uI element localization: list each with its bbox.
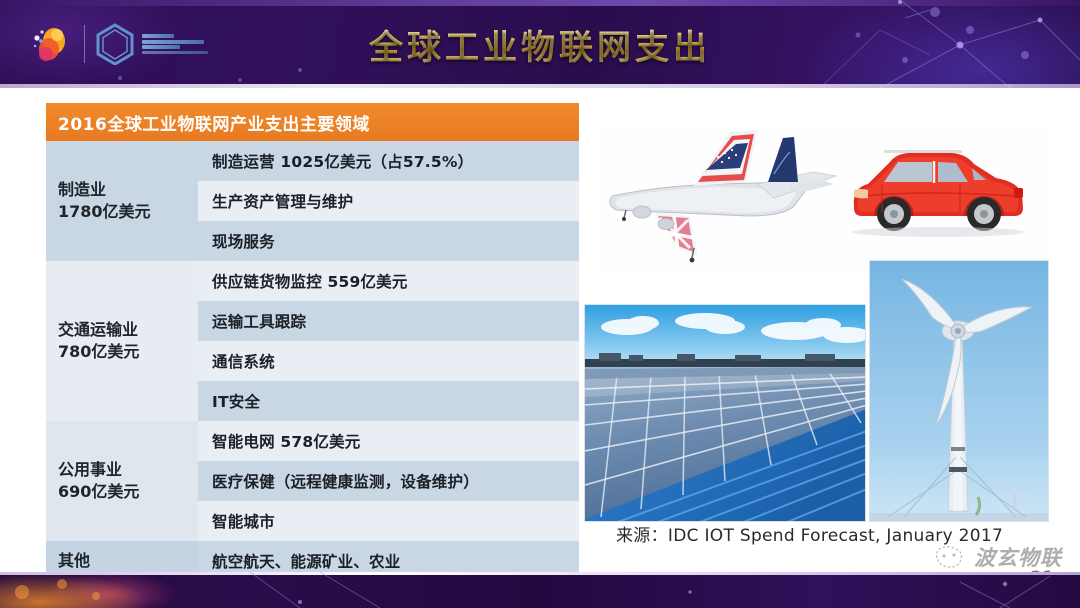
table-header-row: 2016全球工业物联网产业支出主要领域 (46, 103, 579, 141)
table-row: 制造业 1780亿美元 制造运营 1025亿美元（占57.5%） (46, 141, 579, 181)
wind-turbine-photo (869, 260, 1049, 522)
banner-bottom-edge (0, 84, 1080, 88)
table-title: 2016全球工业物联网产业支出主要领域 (46, 103, 579, 141)
airplane-and-red-suv-photo (598, 124, 1050, 272)
category-name: 交通运输业 (58, 319, 198, 341)
slide-footer-banner (0, 572, 1080, 608)
slide-header-banner: 全球工业物联网支出 (0, 0, 1080, 88)
category-amount: 780亿美元 (58, 341, 198, 363)
footer-network-decoration (0, 572, 1080, 608)
table-row: 交通运输业 780亿美元 供应链货物监控 559亿美元 (46, 261, 579, 301)
category-amount: 690亿美元 (58, 481, 198, 503)
category-cell-transportation: 交通运输业 780亿美元 (46, 261, 198, 421)
item-cell: IT安全 (198, 381, 579, 421)
category-name: 制造业 (58, 179, 198, 201)
item-cell: 供应链货物监控 559亿美元 (198, 261, 579, 301)
item-cell: 通信系统 (198, 341, 579, 381)
item-cell: 运输工具跟踪 (198, 301, 579, 341)
page-title: 全球工业物联网支出 (0, 20, 1080, 69)
category-name: 公用事业 (58, 459, 198, 481)
item-cell: 生产资产管理与维护 (198, 181, 579, 221)
category-cell-manufacturing: 制造业 1780亿美元 (46, 141, 198, 261)
item-cell: 智能电网 578亿美元 (198, 421, 579, 461)
category-name: 其他 (58, 550, 198, 572)
slide: 全球工业物联网支出 2016全球工业物联网产业支出主要领域 制造业 1780亿美… (0, 0, 1080, 608)
solar-panel-array-photo (584, 304, 866, 522)
spend-breakdown-table: 2016全球工业物联网产业支出主要领域 制造业 1780亿美元 制造运营 102… (46, 103, 579, 581)
item-cell: 现场服务 (198, 221, 579, 261)
category-amount: 1780亿美元 (58, 201, 198, 223)
table-row: 公用事业 690亿美元 智能电网 578亿美元 (46, 421, 579, 461)
item-cell: 制造运营 1025亿美元（占57.5%） (198, 141, 579, 181)
category-cell-utilities: 公用事业 690亿美元 (46, 421, 198, 541)
watermark-icon (933, 544, 967, 570)
item-cell: 医疗保健（远程健康监测，设备维护） (198, 461, 579, 501)
item-cell: 智能城市 (198, 501, 579, 541)
